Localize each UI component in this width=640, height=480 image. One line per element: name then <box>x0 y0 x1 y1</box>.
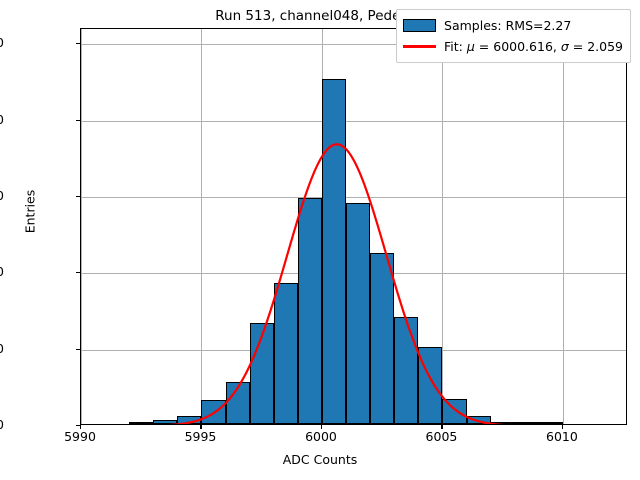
legend-fit-mu-value: = 6000.616, <box>475 39 561 54</box>
x-tick-mark <box>200 425 201 429</box>
plot-area <box>80 28 627 425</box>
legend-swatch-fit-icon <box>403 40 436 53</box>
x-tick-label: 6005 <box>426 429 458 444</box>
legend-label-fit: Fit: μ = 6000.616, σ = 2.059 <box>444 39 623 54</box>
y-tick-label: 1500 <box>0 188 4 203</box>
x-tick-mark <box>441 425 442 429</box>
legend-fit-sigma-symbol: σ <box>561 39 569 54</box>
legend-swatch-samples-icon <box>403 19 436 32</box>
y-tick-label: 500 <box>0 341 4 356</box>
legend-fit-prefix: Fit: <box>444 39 467 54</box>
legend-entry-samples: Samples: RMS=2.27 <box>403 15 623 36</box>
legend-box: Samples: RMS=2.27 Fit: μ = 6000.616, σ =… <box>396 9 631 63</box>
legend-fit-sigma-value: = 2.059 <box>569 39 623 54</box>
figure-canvas: Run 513, channel048, Pedestal Entries AD… <box>0 0 640 480</box>
x-tick-label: 5990 <box>64 429 96 444</box>
y-tick-label: 1000 <box>0 264 4 279</box>
y-axis-label: Entries <box>23 152 38 272</box>
y-tick-label: 2500 <box>0 35 4 50</box>
legend-entry-fit: Fit: μ = 6000.616, σ = 2.059 <box>403 36 623 57</box>
legend-label-samples: Samples: RMS=2.27 <box>444 18 571 33</box>
x-tick-label: 6010 <box>546 429 578 444</box>
legend-fit-mu-symbol: μ <box>467 39 475 54</box>
y-tick-label: 2000 <box>0 112 4 127</box>
x-tick-mark <box>321 425 322 429</box>
gaussian-fit-curve <box>81 29 627 425</box>
y-tick-label: 0 <box>0 417 4 432</box>
x-tick-label: 5995 <box>185 429 217 444</box>
x-tick-mark <box>80 425 81 429</box>
x-axis-label: ADC Counts <box>0 452 640 467</box>
x-tick-label: 6000 <box>305 429 337 444</box>
x-tick-mark <box>562 425 563 429</box>
